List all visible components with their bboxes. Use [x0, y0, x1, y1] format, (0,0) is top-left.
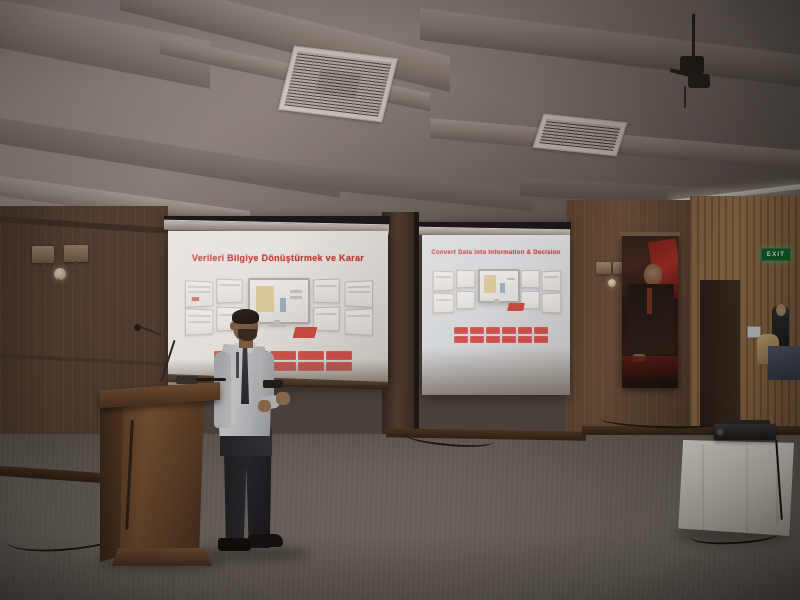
presentation-clicker [263, 380, 283, 388]
podium-cable [196, 378, 226, 381]
attendee-face [776, 304, 786, 316]
banner-rail [620, 232, 680, 236]
slide-left-graphic [182, 275, 374, 345]
presenter-ear [230, 322, 235, 330]
ceiling [0, 0, 800, 232]
microphone-head [134, 324, 141, 331]
room-photo: EXIT Verileri Bilgiye Dönüştürm [0, 0, 800, 600]
doorway[interactable] [700, 280, 740, 440]
exit-sign-label: EXIT [767, 252, 785, 258]
presenter-hair [232, 309, 259, 324]
presenter-hand-left [258, 400, 271, 412]
exit-sign: EXIT [761, 248, 791, 261]
presenter-shoe-right [247, 534, 283, 547]
presenter-beard [238, 329, 257, 341]
screen-right: Convert Data into Information & Decision [422, 235, 570, 395]
slide-left-title: Verileri Bilgiye Dönüştürmek ve Karar [168, 253, 388, 263]
wall-sconce-left [30, 244, 92, 290]
presenter-lanyard [236, 352, 239, 378]
portrait-banner [622, 236, 678, 388]
presenter-hand-right [276, 392, 290, 405]
slide-right-button-grid [454, 327, 548, 343]
slide-right-graphic [432, 267, 560, 321]
screen-left: Verileri Bilgiye Dönüştürmek ve Karar [168, 231, 388, 385]
microphone-base [176, 376, 198, 384]
slide-right-title: Convert Data into Information & Decision [422, 250, 570, 256]
projector-lens [716, 428, 724, 436]
background-table [768, 346, 800, 380]
presenter-shoe-left [218, 538, 252, 551]
presenter-leg-left [222, 450, 247, 548]
column-edge [414, 212, 419, 440]
